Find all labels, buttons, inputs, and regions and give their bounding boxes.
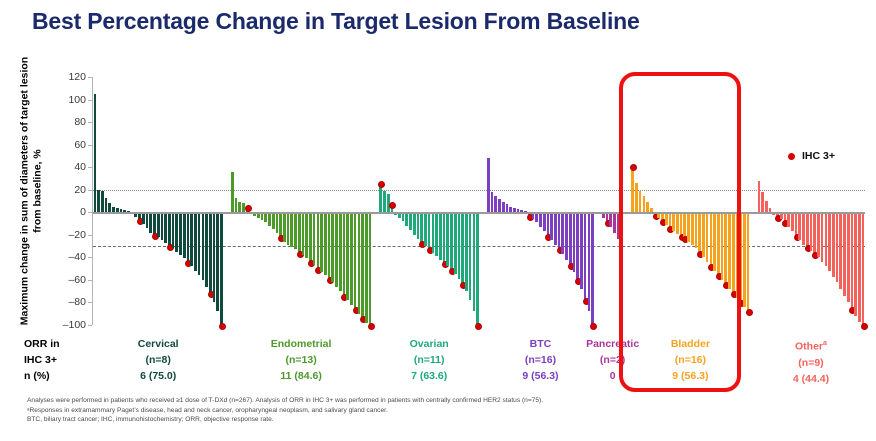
y-tick-mark: [88, 100, 92, 101]
waterfall-bar: [142, 212, 145, 223]
y-tick-label: 40: [40, 162, 86, 172]
waterfall-bar: [854, 212, 857, 316]
waterfall-bar: [584, 212, 587, 300]
category-endometrial: Endometrial(n=13)11 (84.6): [231, 336, 371, 384]
waterfall-bar: [365, 212, 368, 322]
slide-root: Best Percentage Change in Target Lesion …: [0, 0, 876, 441]
waterfall-bar: [713, 212, 716, 271]
y-tick-label: 120: [40, 72, 86, 82]
y-tick-mark: [88, 122, 92, 123]
waterfall-bar: [146, 212, 149, 228]
category-n: (n=13): [231, 352, 371, 368]
waterfall-bar: [665, 212, 668, 224]
waterfall-bar: [758, 181, 761, 213]
waterfall-bar: [361, 212, 364, 318]
waterfall-bar: [761, 192, 764, 212]
waterfall-bar: [639, 191, 642, 212]
ihc3-marker-dot: [389, 202, 396, 209]
waterfall-plot-area: 120100806040200–20–40–60–80–100: [93, 77, 865, 325]
waterfall-bar: [736, 212, 739, 298]
y-tick-mark: [88, 235, 92, 236]
waterfall-bar: [290, 212, 293, 247]
waterfall-bar: [209, 212, 212, 293]
waterfall-bar: [739, 212, 742, 302]
waterfall-bar: [672, 212, 675, 231]
footnotes: Analyses were performed in patients who …: [27, 396, 727, 425]
waterfall-bar: [194, 212, 197, 271]
waterfall-bar: [535, 212, 538, 222]
waterfall-bar: [828, 212, 831, 271]
category-n: (n=16): [620, 352, 760, 368]
waterfall-bar: [268, 212, 271, 226]
waterfall-bar: [806, 212, 809, 247]
waterfall-bar: [580, 212, 583, 289]
ihc3-marker-dot: [746, 309, 753, 316]
waterfall-bar: [825, 212, 828, 266]
waterfall-bar: [264, 212, 267, 222]
y-tick-mark: [88, 77, 92, 78]
waterfall-bar: [631, 169, 634, 212]
waterfall-bar: [439, 212, 442, 259]
waterfall-bar: [190, 212, 193, 266]
waterfall-bar: [379, 186, 382, 212]
waterfall-bar: [565, 212, 568, 259]
y-tick-label: 100: [40, 95, 86, 105]
orr-header-line2: IHC 3+: [24, 352, 88, 368]
waterfall-bar: [787, 212, 790, 227]
waterfall-bar: [591, 212, 594, 325]
waterfall-bar: [710, 212, 713, 266]
waterfall-bar: [168, 212, 171, 246]
waterfall-bar: [695, 212, 698, 248]
waterfall-bar: [287, 212, 290, 245]
footnote-3: BTC, biliary tract cancer; IHC, immunohi…: [27, 415, 727, 425]
waterfall-bar: [354, 212, 357, 309]
waterfall-bar: [108, 203, 111, 212]
y-tick-mark: [88, 167, 92, 168]
category-orr: 4 (44.4): [741, 371, 876, 387]
waterfall-bar: [335, 212, 338, 286]
y-tick-label: –40: [40, 252, 86, 262]
waterfall-bar: [435, 212, 438, 256]
waterfall-bar: [220, 212, 223, 325]
waterfall-bar: [458, 212, 461, 279]
waterfall-bar: [202, 212, 205, 280]
legend-label: IHC 3+: [802, 150, 835, 162]
waterfall-bar: [187, 212, 190, 262]
waterfall-bar: [817, 212, 820, 257]
waterfall-bar: [795, 212, 798, 236]
waterfall-bar: [409, 212, 412, 230]
waterfall-bar: [561, 212, 564, 254]
waterfall-bar: [539, 212, 542, 227]
footnote-2: ᵃResponses in extramammary Paget’s disea…: [27, 406, 727, 416]
waterfall-bar: [302, 212, 305, 255]
waterfall-bar: [443, 212, 446, 263]
waterfall-bar: [706, 212, 709, 262]
y-tick-label: –20: [40, 230, 86, 240]
category-n: (n=8): [88, 352, 228, 368]
category-bladder: Bladder(n=16)9 (56.3): [620, 336, 760, 384]
waterfall-bar: [276, 212, 279, 232]
waterfall-bar: [802, 212, 805, 245]
waterfall-bar: [588, 212, 591, 311]
waterfall-bar: [506, 204, 509, 212]
orr-header-line3: n (%): [24, 368, 88, 384]
waterfall-bar: [847, 212, 850, 302]
ihc3-marker-dot: [861, 323, 868, 330]
waterfall-bar: [798, 212, 801, 240]
waterfall-bar: [205, 212, 208, 286]
zero-baseline: [93, 212, 865, 213]
waterfall-bar: [498, 199, 501, 213]
y-tick-mark: [88, 145, 92, 146]
waterfall-bar: [298, 212, 301, 253]
waterfall-bar: [839, 212, 842, 289]
waterfall-bar: [238, 202, 241, 212]
y-tick-label: –60: [40, 275, 86, 285]
waterfall-bar: [343, 212, 346, 295]
page-title: Best Percentage Change in Target Lesion …: [32, 8, 852, 35]
waterfall-bar: [161, 212, 164, 240]
waterfall-bar: [369, 212, 372, 325]
waterfall-bar: [94, 94, 97, 212]
waterfall-bar: [350, 212, 353, 304]
category-name: Bladder: [620, 336, 760, 352]
waterfall-bar: [331, 212, 334, 282]
waterfall-bar: [617, 212, 620, 239]
waterfall-bar: [432, 212, 435, 253]
ihc3-marker-dot: [475, 323, 482, 330]
waterfall-bar: [502, 202, 505, 212]
waterfall-bar: [683, 212, 686, 238]
waterfall-bar: [621, 212, 624, 247]
waterfall-bar: [491, 192, 494, 212]
waterfall-bar: [324, 212, 327, 275]
waterfall-bar: [791, 212, 794, 231]
waterfall-bar: [469, 212, 472, 300]
ihc3-dot-icon: [788, 153, 795, 160]
waterfall-bar: [339, 212, 342, 291]
waterfall-bar: [358, 212, 361, 313]
y-tick-mark: [88, 302, 92, 303]
waterfall-bar: [698, 212, 701, 253]
y-tick-label: –80: [40, 297, 86, 307]
waterfall-bar: [547, 212, 550, 236]
waterfall-bar: [446, 212, 449, 266]
waterfall-bar: [717, 212, 720, 275]
ihc3-marker-dot: [245, 205, 252, 212]
waterfall-bar: [305, 212, 308, 258]
waterfall-bar: [317, 212, 320, 268]
waterfall-bar: [691, 212, 694, 245]
ihc3-marker-dot: [630, 164, 637, 171]
waterfall-bar: [554, 212, 557, 245]
waterfall-bar: [676, 212, 679, 233]
category-name: Cervical: [88, 336, 228, 352]
category-footer: ORR in IHC 3+ n (%) Cervical(n=8)6 (75.0…: [0, 336, 876, 394]
legend-ihc3: IHC 3+: [788, 150, 835, 162]
waterfall-bar: [609, 212, 612, 227]
y-tick-label: –100: [40, 320, 86, 330]
y-tick-mark: [88, 190, 92, 191]
waterfall-bar: [747, 212, 750, 311]
waterfall-bar: [231, 172, 234, 213]
waterfall-bar: [832, 212, 835, 276]
waterfall-bar: [765, 201, 768, 212]
waterfall-bar: [283, 212, 286, 241]
waterfall-bar: [313, 212, 316, 265]
waterfall-bar: [383, 191, 386, 212]
y-tick-label: 20: [40, 185, 86, 195]
waterfall-bar: [836, 212, 839, 282]
waterfall-bar: [417, 212, 420, 239]
waterfall-bar: [680, 212, 683, 236]
waterfall-bar: [550, 212, 553, 240]
category-name: Othera: [741, 336, 876, 355]
waterfall-bar: [424, 212, 427, 246]
waterfall-bar: [320, 212, 323, 272]
ihc3-marker-dot: [378, 181, 385, 188]
waterfall-bar: [813, 212, 816, 254]
waterfall-bar: [346, 212, 349, 300]
waterfall-bar: [810, 212, 813, 250]
waterfall-bar: [728, 212, 731, 289]
waterfall-bar: [105, 198, 108, 213]
waterfall-bar: [473, 212, 476, 311]
waterfall-bar: [97, 190, 100, 213]
waterfall-bar: [198, 212, 201, 275]
waterfall-bar: [454, 212, 457, 274]
waterfall-bar: [724, 212, 727, 284]
y-tick-mark: [88, 280, 92, 281]
waterfall-bar: [216, 212, 219, 311]
waterfall-bar: [272, 212, 275, 229]
waterfall-bar: [164, 212, 167, 242]
waterfall-bar: [175, 212, 178, 251]
waterfall-bar: [405, 212, 408, 226]
waterfall-bar: [569, 212, 572, 265]
waterfall-bar: [309, 212, 312, 262]
y-tick-label: 80: [40, 117, 86, 127]
waterfall-bar: [461, 212, 464, 284]
waterfall-bar: [420, 212, 423, 242]
ihc3-marker-dot: [590, 323, 597, 330]
category-orr: 6 (75.0): [88, 368, 228, 384]
waterfall-bar: [635, 183, 638, 212]
waterfall-bar: [101, 191, 104, 212]
waterfall-bar: [153, 212, 156, 235]
ihc3-marker-dot: [368, 323, 375, 330]
footnote-1: Analyses were performed in patients who …: [27, 396, 727, 406]
category-orr: 9 (56.3): [620, 368, 760, 384]
waterfall-bar: [543, 212, 546, 231]
waterfall-bar: [413, 212, 416, 235]
waterfall-bar: [494, 196, 497, 212]
y-tick-mark: [88, 257, 92, 258]
waterfall-bar: [558, 212, 561, 249]
y-tick-mark: [88, 212, 92, 213]
waterfall-bar: [576, 212, 579, 280]
category-other: Othera(n=9)4 (44.4): [741, 336, 876, 387]
y-tick-mark: [88, 325, 92, 326]
waterfall-bar: [172, 212, 175, 248]
waterfall-bar: [294, 212, 297, 249]
y-tick-label: 60: [40, 140, 86, 150]
waterfall-bar: [843, 212, 846, 295]
waterfall-bar: [428, 212, 431, 249]
waterfall-bar: [149, 212, 152, 232]
waterfall-bar: [213, 212, 216, 302]
waterfall-bar: [687, 212, 690, 241]
waterfall-bar: [646, 202, 649, 212]
waterfall-bar: [450, 212, 453, 269]
waterfall-bar: [573, 212, 576, 272]
waterfall-bar: [157, 212, 160, 237]
waterfall-bar: [862, 212, 865, 325]
ihc3-marker-dot: [219, 323, 226, 330]
category-name: Endometrial: [231, 336, 371, 352]
waterfall-bar: [476, 212, 479, 325]
y-tick-label: 0: [40, 207, 86, 217]
waterfall-bar: [721, 212, 724, 280]
waterfall-bar: [732, 212, 735, 293]
waterfall-bar: [279, 212, 282, 237]
waterfall-bar: [235, 198, 238, 213]
waterfall-bar: [465, 212, 468, 291]
waterfall-bar: [643, 196, 646, 212]
waterfall-bar: [858, 212, 861, 321]
waterfall-bar: [851, 212, 854, 309]
waterfall-bar: [613, 212, 616, 232]
category-orr: 11 (84.6): [231, 368, 371, 384]
category-cervical: Cervical(n=8)6 (75.0): [88, 336, 228, 384]
orr-header-line1: ORR in: [24, 336, 88, 352]
waterfall-bar: [487, 158, 490, 212]
waterfall-bar: [702, 212, 705, 257]
category-n: (n=9): [741, 355, 876, 371]
waterfall-bar: [179, 212, 182, 255]
waterfall-bar: [743, 212, 746, 307]
waterfall-bar: [821, 212, 824, 262]
waterfall-bar: [328, 212, 331, 279]
reference-line-20: [93, 190, 865, 191]
orr-header: ORR in IHC 3+ n (%): [24, 336, 88, 384]
waterfall-bar: [183, 212, 186, 258]
category-superscript: a: [823, 340, 827, 347]
